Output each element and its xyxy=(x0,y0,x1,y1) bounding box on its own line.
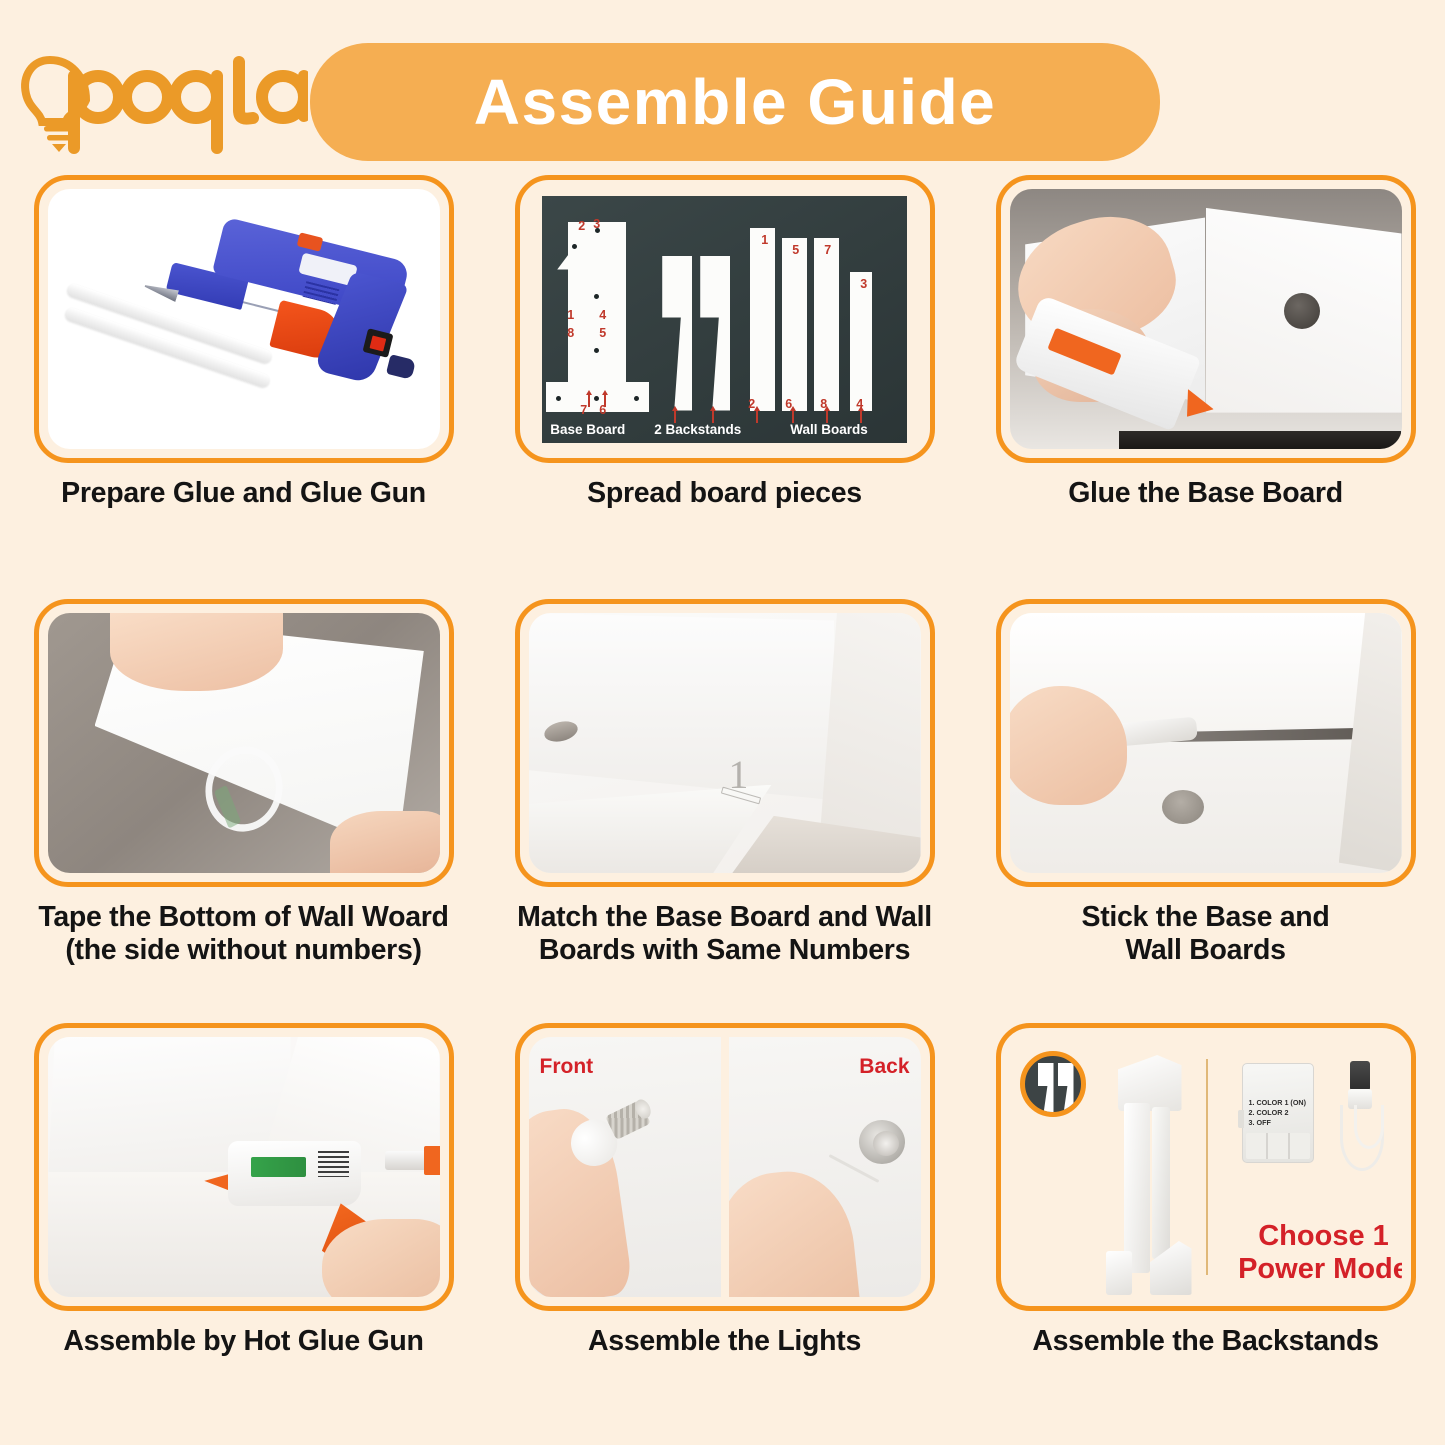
step-image-frame-3 xyxy=(996,175,1416,463)
step-caption-2: Spread board pieces xyxy=(587,477,862,510)
page-title: Assemble Guide xyxy=(474,70,997,134)
screw-hole xyxy=(556,396,561,401)
table-edge xyxy=(1119,431,1401,449)
power-mode-note-line2: Power Mode xyxy=(1238,1253,1401,1285)
step-caption-6-line2: Wall Boards xyxy=(1125,934,1285,966)
battery-box: 1. COLOR 1 (ON) 2. COLOR 2 3. OFF xyxy=(1242,1063,1314,1163)
piece-number: 3 xyxy=(860,278,867,291)
step-caption-6-line1: Stick the Base and xyxy=(1081,901,1329,933)
step-image-frame-5: 1 xyxy=(515,599,935,887)
piece-number: 5 xyxy=(792,244,799,257)
glue-gun-vent xyxy=(318,1151,349,1177)
step-image-6 xyxy=(1010,613,1402,873)
usb-cord xyxy=(1354,1105,1384,1149)
piece-number: 4 xyxy=(599,309,606,322)
battery-mode-2: 2. COLOR 2 xyxy=(1249,1108,1307,1118)
step-image-frame-7 xyxy=(34,1023,454,1311)
glue-gun-label xyxy=(251,1157,306,1178)
usb-plug-icon xyxy=(1350,1061,1370,1091)
step-caption-4: Tape the Bottom of Wall Woard (the side … xyxy=(38,901,448,968)
piece-number: 3 xyxy=(593,218,600,231)
step-caption-5-line1: Match the Base Board and Wall xyxy=(517,901,932,933)
step-image-3 xyxy=(1010,189,1402,449)
base-board xyxy=(529,785,772,873)
lightbulb-icon xyxy=(18,48,308,156)
brand-logo xyxy=(10,48,310,156)
step-caption-4-line1: Tape the Bottom of Wall Woard xyxy=(38,901,448,933)
glue-gun-cord xyxy=(385,354,415,380)
pointer-arrow xyxy=(588,394,590,407)
board-hole xyxy=(1284,293,1320,329)
steps-grid: Prepare Glue and Glue Gun 2 xyxy=(0,175,1445,1443)
step-card-5: 1 Match the Base Board and Wall Boards w… xyxy=(505,599,944,1005)
wall-board-piece xyxy=(782,238,807,411)
light-back-view: Back xyxy=(729,1037,921,1297)
wall-board-piece xyxy=(850,272,872,411)
back-label: Back xyxy=(859,1055,909,1079)
usb-cable xyxy=(1328,1061,1402,1171)
step-image-5: 1 xyxy=(529,613,921,873)
step-image-2: 2 3 1 8 4 5 7 6 xyxy=(529,189,921,449)
backstand-column xyxy=(1152,1107,1170,1259)
pointer-arrow xyxy=(604,394,606,407)
piece-number: 2 xyxy=(578,220,585,233)
light-front-view: Front xyxy=(529,1037,721,1297)
backstand-leg xyxy=(1106,1251,1132,1295)
battery-mode-3: 3. OFF xyxy=(1249,1118,1307,1128)
step-caption-6: Stick the Base and Wall Boards xyxy=(1081,901,1329,968)
page-title-banner: Assemble Guide xyxy=(310,43,1160,161)
battery-mode-1: 1. COLOR 1 (ON) xyxy=(1249,1098,1307,1108)
backstand-piece xyxy=(700,256,730,411)
step-caption-4-line2: (the side without numbers) xyxy=(65,934,421,966)
battery-box-switch xyxy=(1238,1110,1244,1128)
power-mode-note-line1: Choose 1 xyxy=(1258,1220,1389,1252)
step-caption-5-line2: Boards with Same Numbers xyxy=(539,934,910,966)
wall-board-right xyxy=(267,1037,439,1157)
hand xyxy=(330,811,440,873)
step-caption-8: Assemble the Lights xyxy=(588,1325,861,1358)
piece-number: 5 xyxy=(599,327,606,340)
step-image-frame-4 xyxy=(34,599,454,887)
backstand-assembly xyxy=(1102,1055,1186,1295)
step-image-8: Front Back xyxy=(529,1037,921,1297)
screw-hole xyxy=(634,396,639,401)
step-caption-7: Assemble by Hot Glue Gun xyxy=(63,1325,423,1358)
step-card-9: 1. COLOR 1 (ON) 2. COLOR 2 3. OFF Choose… xyxy=(986,1023,1425,1429)
wall-board-piece xyxy=(814,238,839,411)
step-caption-3: Glue the Base Board xyxy=(1068,477,1343,510)
step-image-frame-6 xyxy=(996,599,1416,887)
wall-board-piece xyxy=(750,228,775,411)
piece-number: 7 xyxy=(580,404,587,417)
front-label: Front xyxy=(540,1055,594,1079)
step-image-1 xyxy=(48,189,440,449)
diagram-label-backstands: 2 Backstands xyxy=(654,422,741,437)
battery-mode-list: 1. COLOR 1 (ON) 2. COLOR 2 3. OFF xyxy=(1249,1098,1307,1129)
step-card-6: Stick the Base and Wall Boards xyxy=(986,599,1425,1005)
step-image-frame-8: Front Back xyxy=(515,1023,935,1311)
screw-hole xyxy=(572,244,577,249)
step-card-2: 2 3 1 8 4 5 7 6 xyxy=(505,175,944,581)
backstand-piece xyxy=(662,256,692,411)
step-card-4: Tape the Bottom of Wall Woard (the side … xyxy=(24,599,463,1005)
battery-cells xyxy=(1246,1133,1310,1159)
board-pieces-diagram: 2 3 1 8 4 5 7 6 xyxy=(542,196,907,443)
step-caption-1: Prepare Glue and Glue Gun xyxy=(61,477,426,510)
piece-number: 1 xyxy=(761,234,768,247)
backstand-column xyxy=(1124,1103,1150,1273)
diagram-label-wall-boards: Wall Boards xyxy=(790,422,868,437)
step-image-frame-1 xyxy=(34,175,454,463)
screw-hole xyxy=(594,396,599,401)
step-image-4 xyxy=(48,613,440,873)
hand xyxy=(110,613,282,691)
piece-number: 8 xyxy=(567,327,574,340)
step-image-9: 1. COLOR 1 (ON) 2. COLOR 2 3. OFF Choose… xyxy=(1010,1037,1402,1297)
board-hole xyxy=(1162,790,1204,824)
two-backstands-icon xyxy=(1020,1051,1086,1117)
hand xyxy=(729,1165,864,1297)
step-image-7 xyxy=(48,1037,440,1297)
piece-number: 7 xyxy=(824,244,831,257)
page-header: Assemble Guide xyxy=(0,0,1445,175)
diagram-label-base-board: Base Board xyxy=(550,422,625,437)
step-card-1: Prepare Glue and Glue Gun xyxy=(24,175,463,581)
wall-board xyxy=(529,613,835,800)
step-caption-5: Match the Base Board and Wall Boards wit… xyxy=(517,901,932,968)
step-image-frame-2: 2 3 1 8 4 5 7 6 xyxy=(515,175,935,463)
screw-hole xyxy=(594,348,599,353)
power-mode-note: Choose 1 Power Mode xyxy=(1234,1220,1402,1285)
step-image-frame-9: 1. COLOR 1 (ON) 2. COLOR 2 3. OFF Choose… xyxy=(996,1023,1416,1311)
bulb-socket-inner xyxy=(873,1131,899,1156)
step-card-7: Assemble by Hot Glue Gun xyxy=(24,1023,463,1429)
divider xyxy=(1206,1059,1208,1275)
pointer-arrow xyxy=(756,410,758,423)
step-caption-9: Assemble the Backstands xyxy=(1032,1325,1378,1358)
step-card-8: Front Back Assemble the Lights xyxy=(505,1023,944,1429)
glue-gun-feed xyxy=(424,1146,440,1175)
screw-hole xyxy=(594,294,599,299)
piece-number: 1 xyxy=(567,309,574,322)
step-card-3: Glue the Base Board xyxy=(986,175,1425,581)
